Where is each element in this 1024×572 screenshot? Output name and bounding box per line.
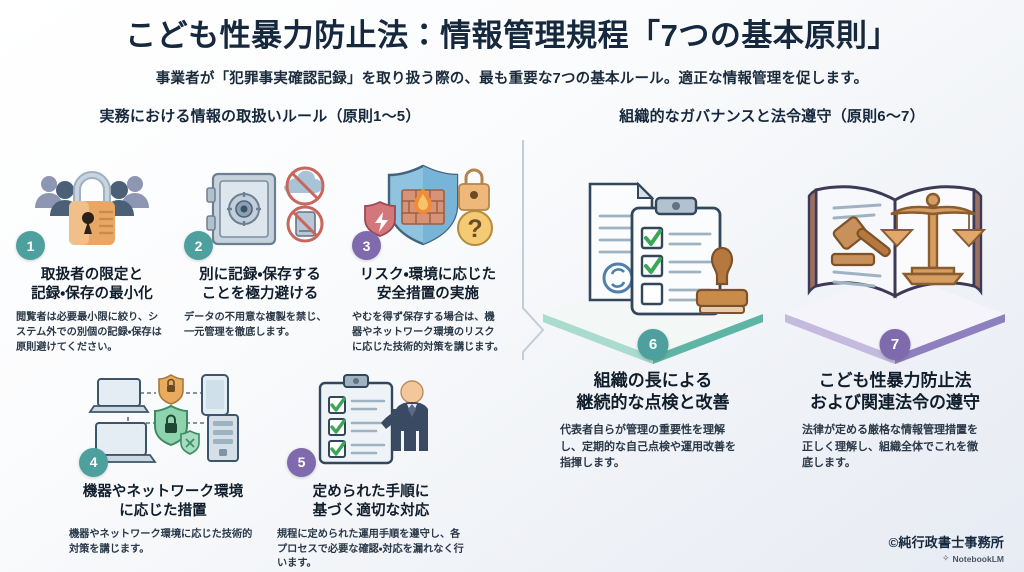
page-title: こども性暴力防止法：情報管理規程「7つの基本原則」 <box>0 18 1024 54</box>
principle-3-art: ? 3 <box>346 158 510 250</box>
principle-5-description: 規程に定められた運用手順を遵守し、各プロセスで必要な確認・対応を漏れなく行います… <box>271 528 471 572</box>
svg-text:?: ? <box>467 215 482 243</box>
principle-5-badge: 5 <box>287 448 316 477</box>
principle-2-badge: 2 <box>184 231 213 260</box>
principle-6-description: 代表者自らが管理の重要性を理解し、定期的な自己点検や運用改善を指揮します。 <box>534 422 772 472</box>
principle-7-description: 法律が定める厳格な情報管理措置を正しく理解し、組織全体でこれを徹底します。 <box>776 422 1014 472</box>
principle-card-4[interactable]: 4 機器やネットワーク環境 に応じた措置 機器やネットワーク環境に応じた技術的対… <box>63 371 263 572</box>
copyright-text: ©純行政書士事務所 <box>889 532 1004 551</box>
page-header: こども性暴力防止法：情報管理規程「7つの基本原則」 事業者が「犯罪事実確認記録」… <box>0 0 1024 88</box>
principle-card-3[interactable]: ? 3 リスク・環境に応じた 安全措置の実施 やむを得ず保存する場合は、機器やネ… <box>346 158 510 356</box>
principles-left-panel: 1 取扱者の限定と 記録・保存の最小化 閲覧者は必要最小限に絞り、システム外での… <box>6 158 514 572</box>
principle-1-badge: 1 <box>16 231 45 260</box>
principle-3-description: やむを得ず保存する場合は、機器やネットワーク環境のリスクに応じた技術的対策を講じ… <box>346 311 510 355</box>
principles-row-top: 1 取扱者の限定と 記録・保存の最小化 閲覧者は必要最小限に絞り、システム外での… <box>6 158 514 356</box>
principle-4-art: 4 <box>63 371 263 467</box>
principle-6-badge: 6 <box>638 329 669 360</box>
principle-5-title: 定められた手順に 基づく適切な対応 <box>271 483 471 521</box>
principle-card-7[interactable]: 7 こども性暴力防止法 および関連法令の遵守 法律が定める厳格な情報管理措置を正… <box>776 150 1014 472</box>
sparkle-icon: ✧ <box>942 553 950 564</box>
page-subtitle: 事業者が「犯罪事実確認記録」を取り扱う際の、最も重要な7つの基本ルール。適正な情… <box>0 67 1024 88</box>
principle-card-5[interactable]: 5 定められた手順に 基づく適切な対応 規程に定められた運用手順を遵守し、各プロ… <box>271 371 471 572</box>
principle-7-art: 7 <box>776 150 1014 368</box>
principle-2-description: データの不用意な複製を禁じ、一元管理を徹底します。 <box>178 311 342 341</box>
principle-1-description: 閲覧者は必要最小限に絞り、システム外での別個の記録・保存は原則避けてください。 <box>10 311 174 355</box>
principle-6-title: 組織の長による 継続的な点検と改善 <box>534 370 772 414</box>
tool-name: NotebookLM <box>953 554 1004 564</box>
tool-credit: ✧ NotebookLM <box>889 553 1004 564</box>
principle-3-title: リスク・環境に応じた 安全措置の実施 <box>346 266 510 304</box>
principle-2-title: 別に記録・保存する ことを極力避ける <box>178 266 342 304</box>
principle-6-art: 6 <box>534 150 772 368</box>
governance-right-panel: 6 組織の長による 継続的な点検と改善 代表者自らが管理の重要性を理解し、定期的… <box>528 150 1020 472</box>
governance-row: 6 組織の長による 継続的な点検と改善 代表者自らが管理の重要性を理解し、定期的… <box>528 150 1020 472</box>
principle-card-2[interactable]: 2 別に記録・保存する ことを極力避ける データの不用意な複製を禁じ、一元管理を… <box>178 158 342 356</box>
principle-4-title: 機器やネットワーク環境 に応じた措置 <box>63 483 263 521</box>
principle-7-title: こども性暴力防止法 および関連法令の遵守 <box>776 370 1014 414</box>
principle-3-badge: 3 <box>352 231 381 260</box>
principle-4-description: 機器やネットワーク環境に応じた技術的対策を講じます。 <box>63 528 263 558</box>
principle-card-1[interactable]: 1 取扱者の限定と 記録・保存の最小化 閲覧者は必要最小限に絞り、システム外での… <box>10 158 174 356</box>
principle-1-title: 取扱者の限定と 記録・保存の最小化 <box>10 266 174 304</box>
principle-4-badge: 4 <box>79 448 108 477</box>
principle-card-6[interactable]: 6 組織の長による 継続的な点検と改善 代表者自らが管理の重要性を理解し、定期的… <box>534 150 772 472</box>
principle-1-art: 1 <box>10 158 174 250</box>
principle-7-badge: 7 <box>880 329 911 360</box>
footer: ©純行政書士事務所 ✧ NotebookLM <box>889 532 1004 564</box>
principle-5-art: 5 <box>271 371 471 467</box>
section-headings: 実務における情報の取扱いルール（原則1〜5） 組織的なガバナンスと法令遵守（原則… <box>0 105 1024 139</box>
section-heading-left: 実務における情報の取扱いルール（原則1〜5） <box>0 105 520 126</box>
principle-2-art: 2 <box>178 158 342 250</box>
principles-row-bottom: 4 機器やネットワーク環境 に応じた措置 機器やネットワーク環境に応じた技術的対… <box>6 371 514 572</box>
section-heading-right: 組織的なガバナンスと法令遵守（原則6〜7） <box>520 105 1024 126</box>
